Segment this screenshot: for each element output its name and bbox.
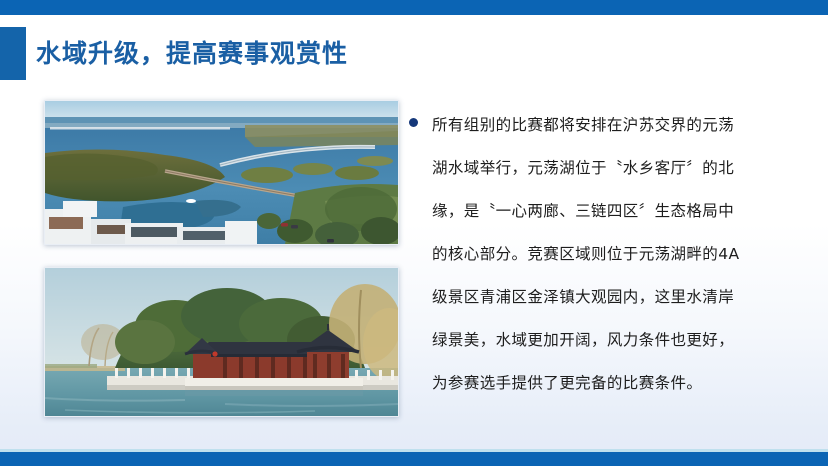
paragraph-lines: 所有组别的比赛都将安排在沪苏交界的元荡 湖水域举行，元荡湖位于〝水乡客厅〞的北 … (432, 104, 819, 405)
bullet-point-icon (409, 118, 418, 127)
slide-root: 水域升级，提高赛事观赏性 (0, 0, 828, 466)
paragraph-line: 的核心部分。竞赛区域则位于元荡湖畔的4A (432, 233, 819, 276)
page-title: 水域升级，提高赛事观赏性 (36, 34, 348, 70)
bottom-accent-bar (0, 452, 828, 466)
paragraph-line: 绿景美，水域更加开阔，风力条件也更好， (432, 319, 819, 362)
paragraph-line: 为参赛选手提供了更完备的比赛条件。 (432, 362, 819, 405)
content-bullet-block: 所有组别的比赛都将安排在沪苏交界的元荡 湖水域举行，元荡湖位于〝水乡客厅〞的北 … (409, 104, 819, 405)
paragraph-line: 所有组别的比赛都将安排在沪苏交界的元荡 (432, 104, 819, 147)
top-accent-bar (0, 0, 828, 15)
paragraph-line: 级景区青浦区金泽镇大观园内，这里水清岸 (432, 276, 819, 319)
aerial-lake-photo-graphic (45, 101, 398, 244)
lakeside-pavilion-photo-graphic (45, 268, 398, 416)
paragraph-line: 湖水域举行，元荡湖位于〝水乡客厅〞的北 (432, 147, 819, 190)
paragraph-line: 缘，是〝一心两廊、三链四区〞生态格局中 (432, 190, 819, 233)
lakeside-pavilion-photo (44, 267, 399, 417)
title-accent-block (0, 27, 26, 80)
aerial-lake-photo (44, 100, 399, 245)
